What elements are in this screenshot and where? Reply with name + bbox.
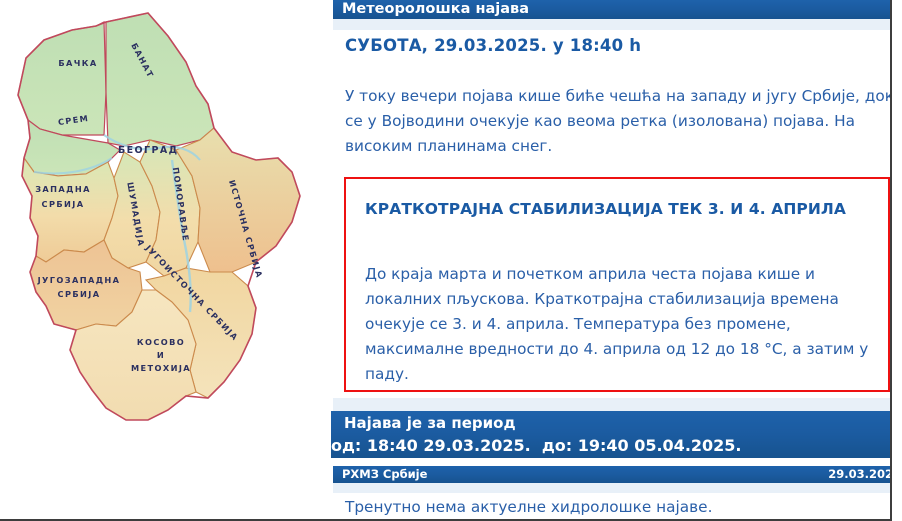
map-region-banat [106,13,214,146]
meteo-title-text: Метеоролошка најава [342,1,529,17]
weather-alert-box: КРАТКОТРАЈНА СТАБИЛИЗАЦИЈА ТЕК 3. И 4. А… [344,177,890,392]
hydro-bar-underline-strip [333,483,893,493]
validity-period-bar: Најава је за период од: 18:40 29.03.2025… [331,411,894,458]
alert-heading: КРАТКОТРАЈНА СТАБИЛИЗАЦИЈА ТЕК 3. И 4. А… [365,197,865,221]
title-underline-strip [333,19,893,30]
map-region-label: СРБИЈА [58,289,101,299]
map-region-label: ЗАПАДНА [35,184,91,194]
capital-label-beograd: БЕОГРАД [118,145,178,156]
period-range-value: од: 18:40 29.03.2025. до: 19:40 05.04.20… [331,436,742,455]
meteo-announcement-title-bar: Метеоролошка најава [333,0,893,19]
forecast-content-panel: Метеоролошка најава СУБОТА, 29.03.2025. … [331,0,902,521]
map-region-label: И [157,350,165,360]
map-region-label: МЕТОХИЈА [131,363,191,373]
hydro-source-bar: РХМЗ Србије 29.03.2025 [333,466,901,483]
period-title-label: Најава је за период [344,414,516,432]
map-region-label: СРБИЈА [42,199,85,209]
map-region-label: БАЧКА [58,58,97,68]
hydro-announcement-message: Тренутно нема актуелне хидролошке најаве… [345,498,712,516]
serbia-map-panel: БАЧКАБАНАТСРЕМЗАПАДНАСРБИЈАШУМАДИЈАПОМОР… [0,0,331,521]
map-region-label: ЈУГОЗАПАДНА [37,275,121,285]
alert-body-paragraph: До краја марта и почетком априла честа п… [365,262,881,387]
hydro-source-name: РХМЗ Србије [342,466,427,483]
alert-gap-strip [333,398,893,411]
forecast-intro-paragraph: У току вечери појава кише биће чешћа на … [345,84,897,159]
map-region-label: КОСОВО [137,337,185,347]
issue-datetime-heading: СУБОТА, 29.03.2025. у 18:40 h [345,36,885,55]
serbia-map-graphic: БАЧКАБАНАТСРЕМЗАПАДНАСРБИЈАШУМАДИЈАПОМОР… [0,0,331,521]
outer-right-fill [892,0,902,521]
